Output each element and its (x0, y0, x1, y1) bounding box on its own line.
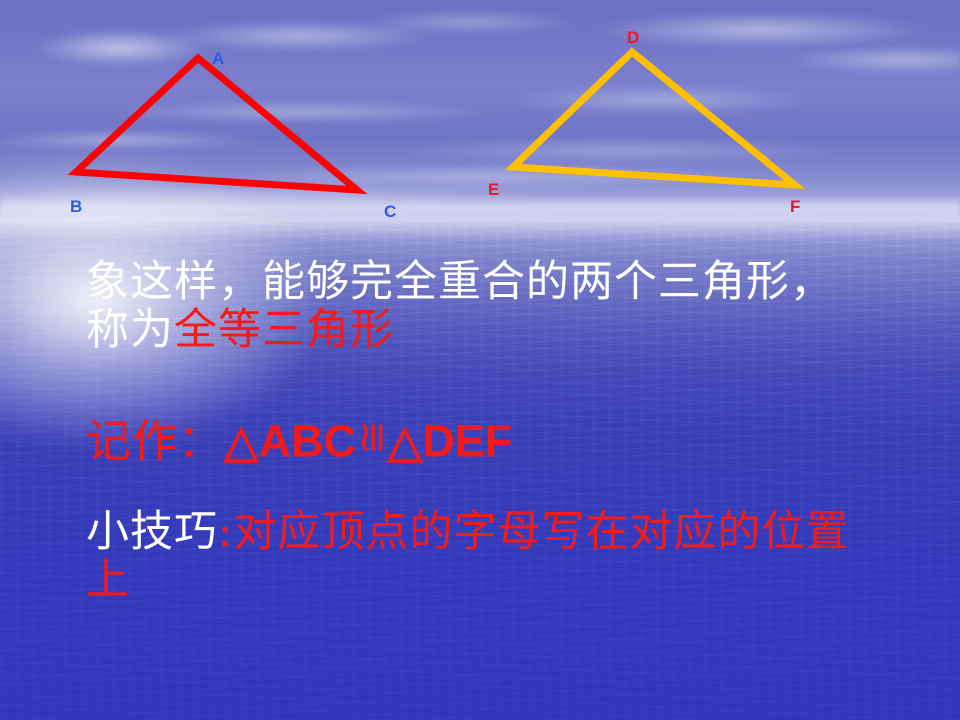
triangle-name-abc: ABC (259, 415, 357, 466)
definition-paragraph: 象这样，能够完全重合的两个三角形，称为全等三角形 (86, 258, 876, 354)
triangle-symbol-left: △ (224, 415, 259, 466)
slide-canvas: A B C D E F 象这样，能够完全重合的两个三角形，称为全等三角形 记作：… (0, 0, 960, 720)
notation-label: 记作： (86, 414, 224, 467)
congruent-symbol (356, 414, 388, 459)
notation-paragraph: 记作：△ABC△DEF (86, 414, 886, 467)
text-layer: 象这样，能够完全重合的两个三角形，称为全等三角形 记作：△ABC△DEF 小技巧… (0, 0, 960, 720)
definition-highlight-term: 全等三角形 (174, 305, 394, 355)
tip-plain-text: 小技巧 (86, 507, 218, 557)
triangle-name-def: DEF (422, 415, 512, 466)
tip-paragraph: 小技巧:对应顶点的字母写在对应的位置上 (86, 508, 886, 604)
